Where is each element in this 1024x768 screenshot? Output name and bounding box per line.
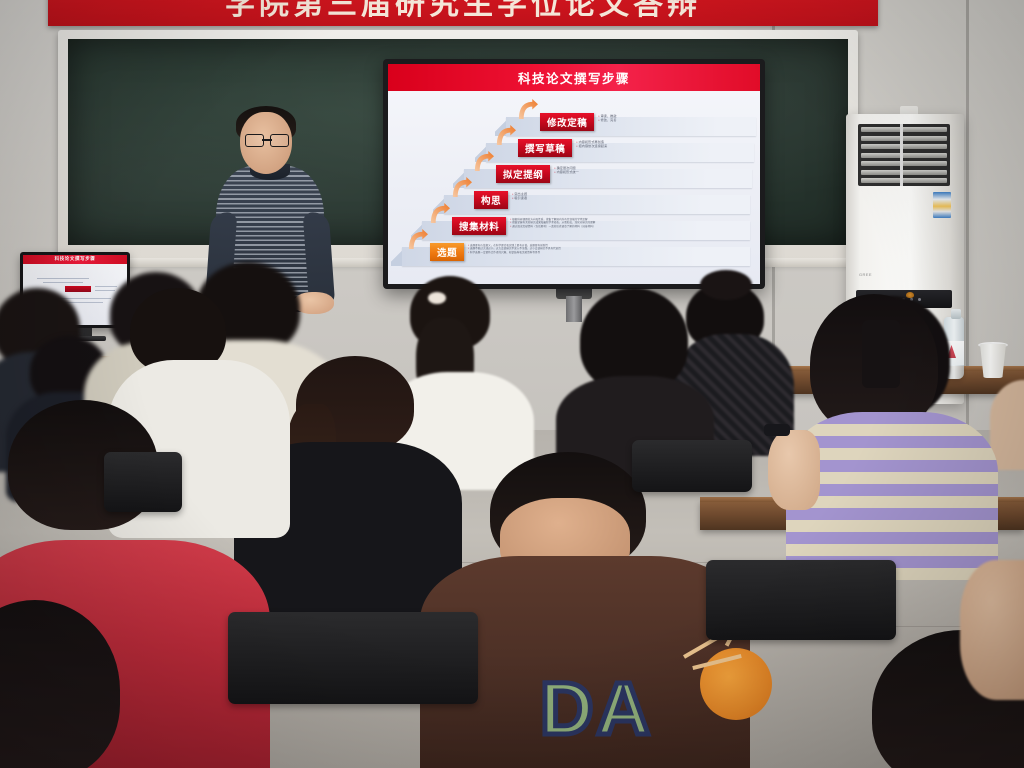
ac-brand-mark: GREE <box>859 272 872 277</box>
banner-text: 学院第三届研究生学位论文答辩 <box>48 0 878 23</box>
wall-seam-2 <box>966 0 969 470</box>
ac-grill-divider <box>900 124 903 186</box>
bullet: 修改、完善 <box>598 118 616 122</box>
curved-arrow-icon-4 <box>472 151 495 172</box>
slide-step-2: 搜集材料 根据科研课题的方向和性质，搜集了解国内外有关领域的学术见解 搜集掌握有… <box>452 217 595 235</box>
ac-grill <box>858 124 950 186</box>
step-bullets-4: 确定层次问题 内容和形式统一 <box>554 165 579 174</box>
curved-arrow-icon-1 <box>406 229 429 250</box>
slide-step-5: 撰写草稿 内容和形式再创造 把内容依次连接起来 <box>518 139 607 157</box>
chair-mid[interactable] <box>632 440 752 492</box>
step-label-3: 构思 <box>474 191 508 209</box>
monitor-slide-title: 科技论文撰写步骤 <box>23 256 127 262</box>
chair-right[interactable] <box>706 560 896 640</box>
bullet: 内容和形式统一 <box>554 170 579 174</box>
curved-arrow-icon-2 <box>428 203 451 224</box>
slide: 科技论文撰写步骤 <box>388 64 760 284</box>
slide-step-1: 选题 选题要有价值意义，在科学理论和实践上要有价值，选题要有创新性 选题不能过大… <box>430 243 561 261</box>
presentation-screen[interactable]: 科技论文撰写步骤 <box>383 59 765 289</box>
slide-title: 科技论文撰写步骤 <box>388 64 760 91</box>
slide-step-3: 构思 突出主题 吸引读者 <box>474 191 527 209</box>
slide-title-bar: 科技论文撰写步骤 <box>388 64 760 91</box>
step-label-4: 拟定提纲 <box>496 165 550 183</box>
step-label-5: 撰写草稿 <box>518 139 572 157</box>
bullet: 通过阅读文献资料（包括期刊）一类的形式调查了解的材料（间接材料） <box>510 225 595 228</box>
bottle-cap <box>951 309 961 319</box>
curved-arrow-icon-5 <box>494 125 517 146</box>
bullet: 把内容依次连接起来 <box>576 144 607 148</box>
curved-arrow-icon-6 <box>516 99 539 120</box>
ac-energy-label <box>933 192 951 218</box>
slide-step-4: 拟定提纲 确定层次问题 内容和形式统一 <box>496 165 579 183</box>
chair-front-left[interactable] <box>228 612 478 704</box>
paper-cup[interactable] <box>980 344 1006 378</box>
bullet: 科学选题一定要符合作者的兴趣、知识结构和文献资料等条件 <box>468 251 561 254</box>
monitor-slide-title-bar: 科技论文撰写步骤 <box>23 255 127 264</box>
step-bullets-1: 选题要有价值意义，在科学理论和实践上要有价值，选题要有创新性 选题不能过大或过小… <box>468 243 561 254</box>
screen-pole <box>566 296 582 322</box>
step-bullets-3: 突出主题 吸引读者 <box>512 191 527 200</box>
classroom-photo: 学院第三届研究生学位论文答辩 科技论文撰写步骤 <box>0 0 1024 768</box>
step-bullets-2: 根据科研课题的方向和性质，搜集了解国内外有关领域的学术见解 搜集掌握有关的研究成… <box>510 217 595 228</box>
slide-step-6: 修改定稿 审读、推敲 修改、完善 <box>540 113 617 131</box>
chair-left[interactable] <box>104 452 182 512</box>
tshirt-graphic-text: DA <box>540 672 653 746</box>
step-label-6: 修改定稿 <box>540 113 594 131</box>
slide-body: 修改定稿 审读、推敲 修改、完善 撰写草稿 内容和形式再创造 把内容依次连接起来 <box>388 91 760 284</box>
curved-arrow-icon-3 <box>450 177 473 198</box>
step-label-2: 搜集材料 <box>452 217 506 235</box>
step-bullets-6: 审读、推敲 修改、完善 <box>598 113 616 122</box>
step-label-1: 选题 <box>430 243 464 261</box>
event-banner: 学院第三届研究生学位论文答辩 <box>48 0 878 26</box>
presenter-hands <box>294 292 334 314</box>
eyeglasses-icon <box>245 134 289 146</box>
bullet: 吸引读者 <box>512 196 527 200</box>
step-bullets-5: 内容和形式再创造 把内容依次连接起来 <box>576 139 607 148</box>
